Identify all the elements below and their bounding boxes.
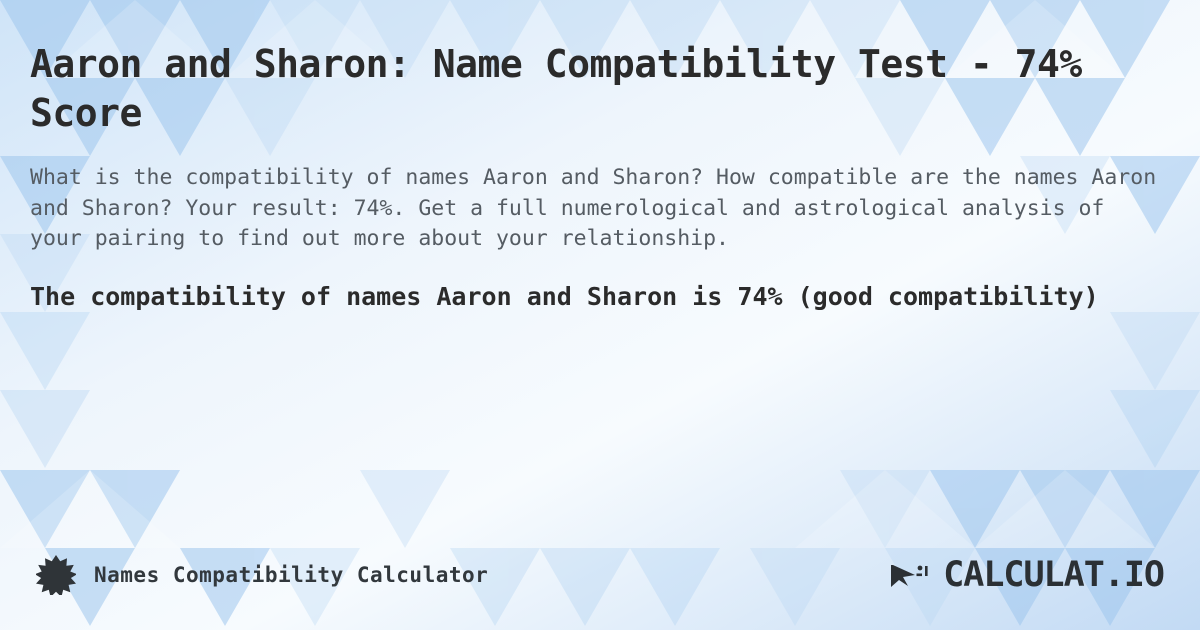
star-burst-icon [36,555,76,595]
footer: Names Compatibility Calculator CALCULAT.… [0,548,1200,602]
compatibility-result: The compatibility of names Aaron and Sha… [30,279,1170,315]
og-image-card: Aaron and Sharon: Name Compatibility Tes… [0,0,1200,630]
page-title: Aaron and Sharon: Name Compatibility Tes… [30,40,1150,137]
site-name-label: Names Compatibility Calculator [94,563,488,587]
footer-brand-right: CALCULAT.IO [889,555,1164,595]
brand-name-label: CALCULAT.IO [943,555,1164,595]
page-description: What is the compatibility of names Aaron… [30,163,1160,255]
card-content: Aaron and Sharon: Name Compatibility Tes… [0,0,1200,314]
footer-brand-left: Names Compatibility Calculator [36,555,488,595]
calculatio-logo-icon [889,557,933,593]
